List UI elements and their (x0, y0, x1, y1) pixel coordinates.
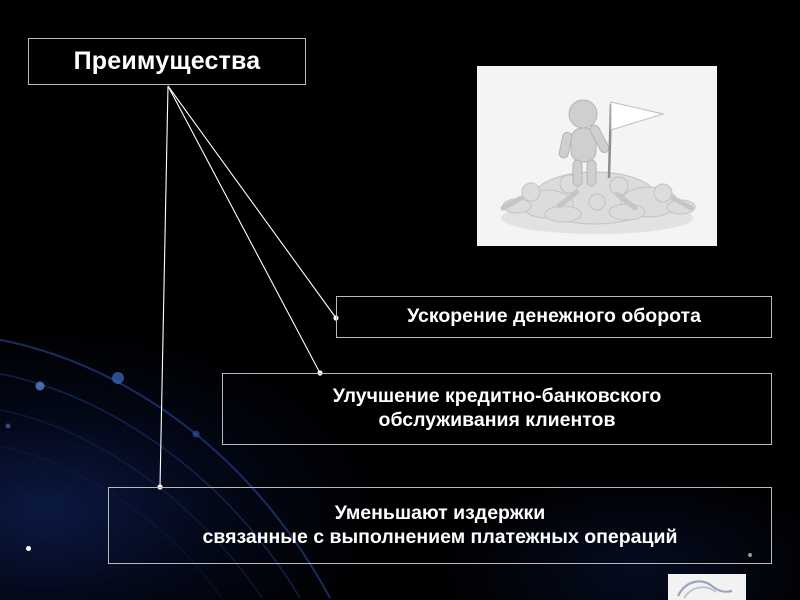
logo-fragment (668, 574, 746, 600)
box-uluchshenie: Улучшение кредитно-банковского обслужива… (222, 373, 772, 445)
box-uskorenie: Ускорение денежного оборота (336, 296, 772, 338)
title-box: Преимущества (28, 38, 306, 85)
period-mark (26, 546, 31, 551)
box-uluchshenie-text: Улучшение кредитно-банковского обслужива… (325, 385, 670, 433)
box-umenshayut: Уменьшают издержки связанные с выполнени… (108, 487, 772, 564)
box-umenshayut-text: Уменьшают издержки связанные с выполнени… (195, 502, 686, 550)
slide-canvas: Преимущества (0, 0, 800, 600)
title-text: Преимущества (66, 46, 269, 77)
box-uskorenie-text: Ускорение денежного оборота (399, 305, 709, 329)
page-mark (748, 553, 752, 557)
photo-figure-on-pile-with-flag (477, 66, 717, 246)
